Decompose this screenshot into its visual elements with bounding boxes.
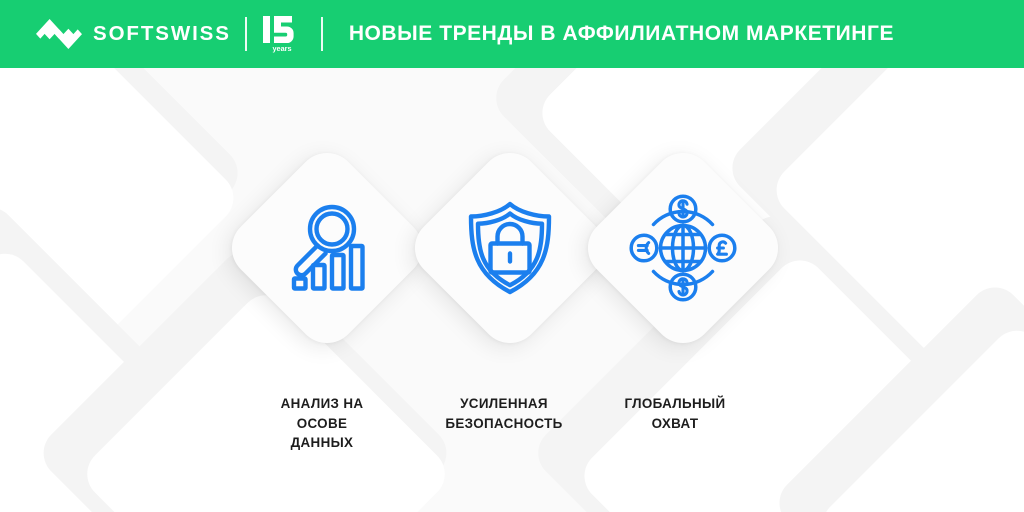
feature-cards: АНАЛИЗ НА ОСОВЕ ДАННЫХ УСИЛЕННАЯ БЕЗОПАС… <box>0 68 1024 512</box>
magnifier-bar-chart-icon <box>272 193 382 303</box>
header-title: НОВЫЕ ТРЕНДЫ В АФФИЛИАТНОМ МАРКЕТИНГЕ <box>349 22 894 46</box>
brand-logo[interactable]: SOFTSWISS <box>36 19 231 49</box>
brand-name-text: SOFTSWISS <box>93 22 231 46</box>
anniversary-15-years-badge: years <box>261 15 301 53</box>
feature-card-2-label: УСИЛЕННАЯ БЕЗОПАСНОСТЬ <box>413 394 595 433</box>
logo-divider <box>245 17 247 51</box>
globe-currencies-icon <box>628 193 738 303</box>
anniversary-years-word: years <box>272 44 291 53</box>
feature-card-1-label: АНАЛИЗ НА ОСОВЕ ДАННЫХ <box>238 394 406 453</box>
feature-card-3-label: ГЛОБАЛЬНЫЙ ОХВАТ <box>592 394 758 433</box>
header-bar: SOFTSWISS years НОВЫЕ ТРЕНДЫ В АФФИЛИАТН… <box>0 0 1024 68</box>
softswiss-logo-icon <box>36 19 82 49</box>
title-divider <box>321 17 323 51</box>
infographic-banner: SOFTSWISS years НОВЫЕ ТРЕНДЫ В АФФИЛИАТН… <box>0 0 1024 512</box>
shield-lock-icon <box>455 193 565 303</box>
